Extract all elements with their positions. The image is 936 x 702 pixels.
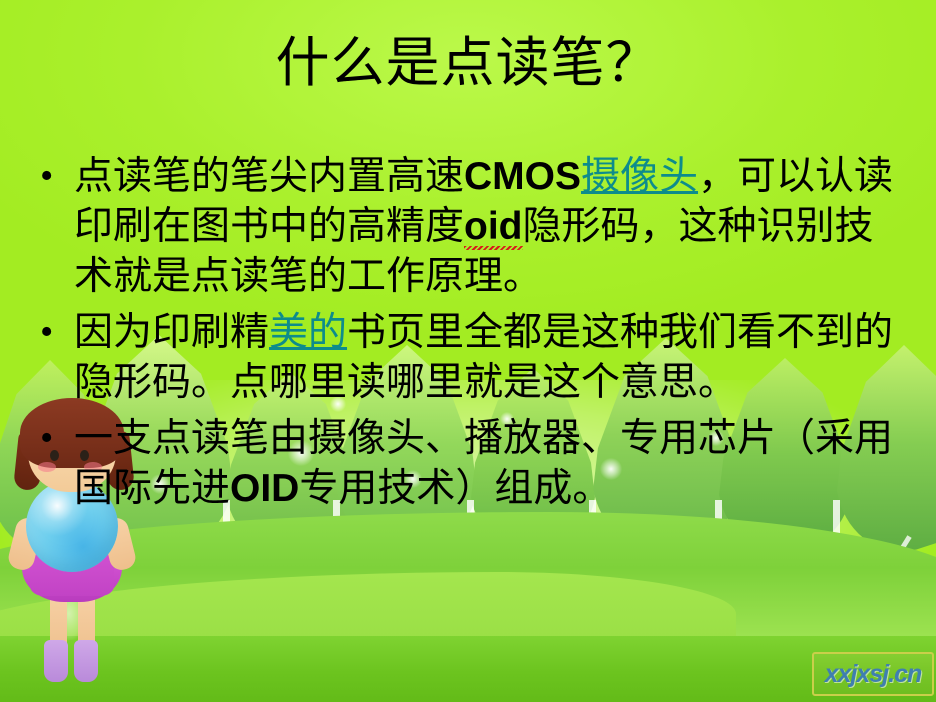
bullet-item: • 一支点读笔由摄像头、播放器、专用芯片（采用国际先进OID专用技术）组成。 xyxy=(34,414,906,514)
slide-title: 什么是点读笔？ xyxy=(0,34,936,92)
girl-boot-left xyxy=(44,640,68,682)
bullet-item: • 因为印刷精美的书页里全都是这种我们看不到的隐形码。点哪里读哪里就是这个意思。 xyxy=(34,308,906,408)
text-run-cmos: CMOS xyxy=(464,155,581,198)
bullet-text-2: 因为印刷精美的书页里全都是这种我们看不到的隐形码。点哪里读哪里就是这个意思。 xyxy=(74,308,906,408)
bullet-glyph: • xyxy=(34,308,74,356)
bullet-text-3: 一支点读笔由摄像头、播放器、专用芯片（采用国际先进OID专用技术）组成。 xyxy=(74,414,906,514)
hyperlink-camera[interactable]: 摄像头 xyxy=(581,155,698,198)
hyperlink-meide[interactable]: 美的 xyxy=(269,311,347,354)
slide-body: • 点读笔的笔尖内置高速CMOS摄像头，可以认读印刷在图书中的高精度oid隐形码… xyxy=(34,152,906,520)
presentation-slide: 什么是点读笔？ • 点读笔的笔尖内置高速CMOS摄像头，可以认读印刷在图书中的高… xyxy=(0,0,936,702)
text-run: 因为印刷精 xyxy=(74,311,269,354)
text-run: 点读笔的笔尖内置高速 xyxy=(74,155,464,198)
bullet-glyph: • xyxy=(34,152,74,200)
watermark-text: xxjxsj.cn xyxy=(825,660,922,689)
bullet-glyph: • xyxy=(34,414,74,462)
bullet-text-1: 点读笔的笔尖内置高速CMOS摄像头，可以认读印刷在图书中的高精度oid隐形码，这… xyxy=(74,152,906,302)
watermark-badge: xxjxsj.cn xyxy=(812,652,934,696)
text-run-oid: oid xyxy=(464,205,522,248)
text-run: 专用技术）组成。 xyxy=(299,467,611,510)
bullet-item: • 点读笔的笔尖内置高速CMOS摄像头，可以认读印刷在图书中的高精度oid隐形码… xyxy=(34,152,906,302)
bottom-grass-strip xyxy=(0,636,936,702)
text-run-oid-upper: OID xyxy=(230,467,299,510)
girl-boot-right xyxy=(74,640,98,682)
